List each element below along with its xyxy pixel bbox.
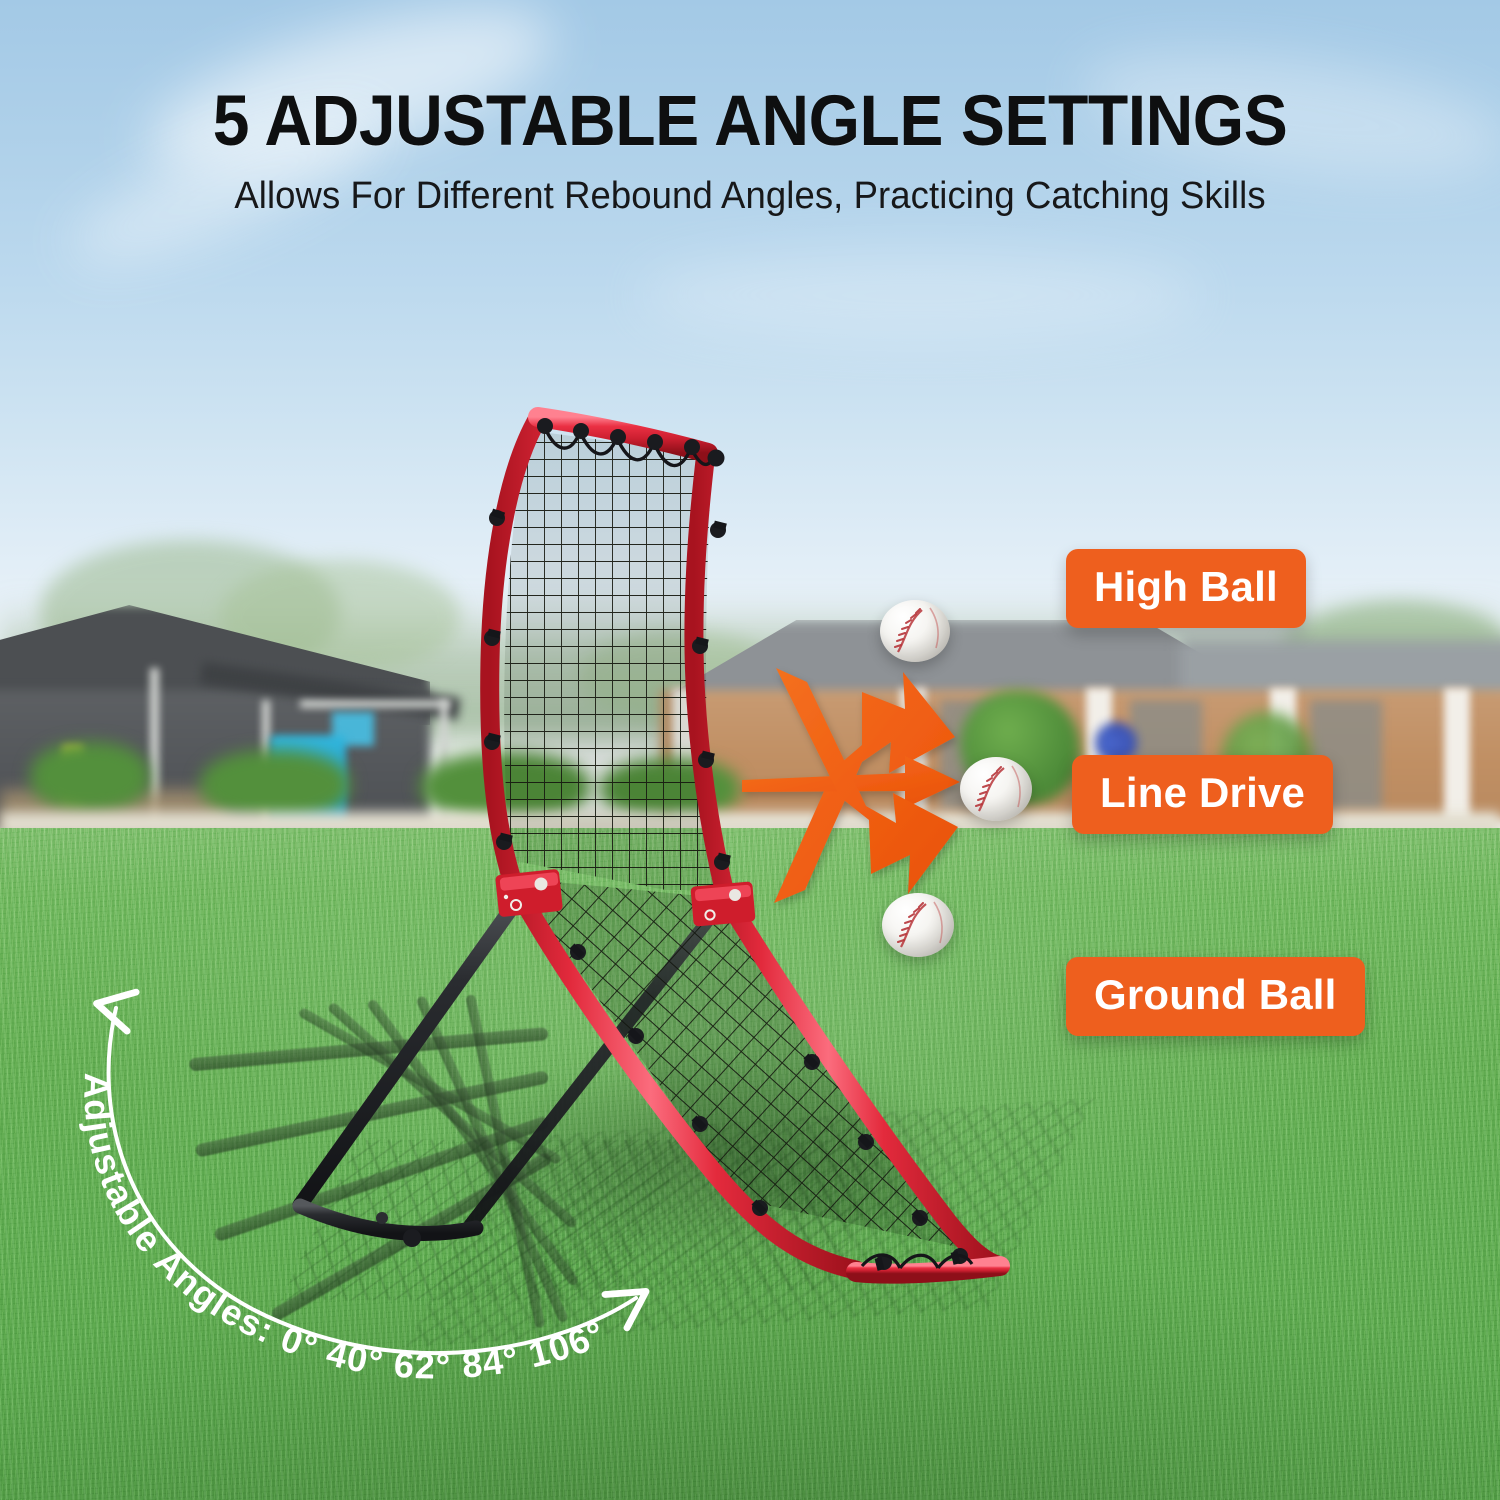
pivot-bracket-left bbox=[495, 869, 563, 917]
pivot-bracket-right bbox=[690, 881, 755, 926]
callout-high-ball[interactable]: High Ball bbox=[1066, 549, 1306, 628]
baseball-ground bbox=[882, 893, 954, 957]
product-marketing-image: 5 ADJUSTABLE ANGLE SETTINGS Allows For D… bbox=[0, 0, 1500, 1500]
adjustable-angles-annotation: Adjustable Angles: 0° 40° 62° 84° 106° bbox=[40, 950, 690, 1420]
angle-arc-label-text: Adjustable Angles: 0° 40° 62° 84° 106° bbox=[76, 1072, 611, 1386]
baseball-high bbox=[880, 600, 950, 662]
baseball-line bbox=[960, 757, 1032, 821]
angle-arc-label: Adjustable Angles: 0° 40° 62° 84° 106° bbox=[76, 1072, 611, 1386]
callout-ground-ball[interactable]: Ground Ball bbox=[1066, 957, 1365, 1036]
callout-line-drive[interactable]: Line Drive bbox=[1072, 755, 1333, 834]
